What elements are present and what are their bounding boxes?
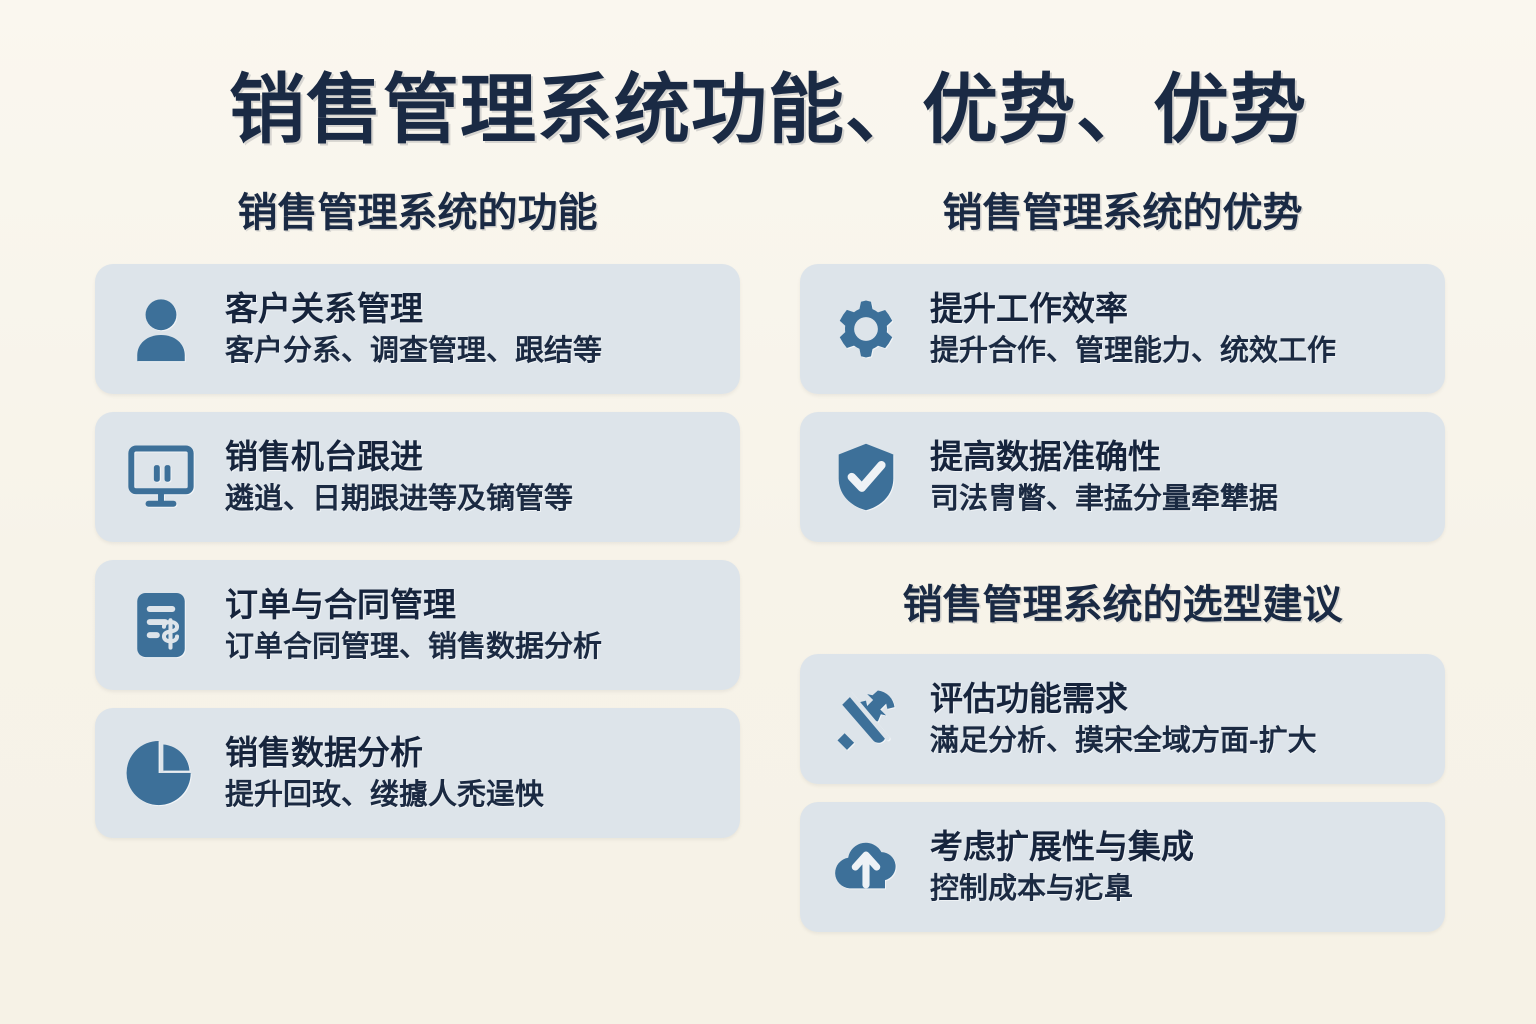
feature-card-sales-analysis[interactable]: 销售数据分析 提升回玫、缕攄人禿逞怏 — [95, 708, 740, 838]
card-title: 销售数据分析 — [225, 733, 716, 773]
card-subtitle: 滿足分析、摸宋全域方面-扩大 — [930, 723, 1421, 759]
pie-chart-icon — [119, 731, 203, 815]
left-column: 销售管理系统的功能 客户关系管理 客户分系、调查管理、跟结等 — [95, 180, 740, 856]
card-title: 提高数据准确性 — [930, 437, 1421, 477]
presentation-board-icon — [119, 435, 203, 519]
gear-icon — [824, 287, 908, 371]
advantage-card-efficiency[interactable]: 提升工作效率 提升合作、管理能力、统效工作 — [800, 264, 1445, 394]
card-subtitle: 控制成本与疕臯 — [930, 871, 1421, 907]
card-text: 客户关系管理 客户分系、调查管理、跟结等 — [225, 289, 716, 370]
right-section-heading-selection: 销售管理系统的选型建议 — [800, 572, 1445, 630]
card-text: 提高数据准确性 司法冑瞥、聿掹分量牵犨据 — [930, 437, 1421, 518]
card-subtitle: 司法冑瞥、聿掹分量牵犨据 — [930, 481, 1421, 517]
wrench-gear-icon — [824, 677, 908, 761]
card-text: 订单与合同管理 订单合同管理、销售数据分析 — [225, 585, 716, 666]
card-text: 销售机台跟进 遴逍、日期跟进等及镝管等 — [225, 437, 716, 518]
card-title: 销售机台跟进 — [225, 437, 716, 477]
right-section-heading-advantages: 销售管理系统的优势 — [800, 180, 1445, 238]
advantage-card-accuracy[interactable]: 提高数据准确性 司法冑瞥、聿掹分量牵犨据 — [800, 412, 1445, 542]
infographic-page: 销售管理系统功能、优势、优势 销售管理系统的功能 客户关系管理 客户分系、调查管… — [0, 0, 1536, 1024]
shield-check-icon — [824, 435, 908, 519]
feature-card-opportunity-tracking[interactable]: 销售机台跟进 遴逍、日期跟进等及镝管等 — [95, 412, 740, 542]
card-title: 订单与合同管理 — [225, 585, 716, 625]
person-icon — [119, 287, 203, 371]
card-title: 提升工作效率 — [930, 289, 1421, 329]
card-text: 考虑扩展性与集成 控制成本与疕臯 — [930, 827, 1421, 908]
selection-card-requirements[interactable]: 评估功能需求 滿足分析、摸宋全域方面-扩大 — [800, 654, 1445, 784]
card-subtitle: 提升合作、管理能力、统效工作 — [930, 333, 1421, 369]
card-title: 客户关系管理 — [225, 289, 716, 329]
cloud-upload-icon — [824, 825, 908, 909]
card-title: 评估功能需求 — [930, 679, 1421, 719]
card-subtitle: 遴逍、日期跟进等及镝管等 — [225, 481, 716, 517]
page-title: 销售管理系统功能、优势、优势 — [0, 48, 1536, 158]
card-text: 销售数据分析 提升回玫、缕攄人禿逞怏 — [225, 733, 716, 814]
card-title: 考虑扩展性与集成 — [930, 827, 1421, 867]
left-section-heading: 销售管理系统的功能 — [95, 180, 740, 238]
card-text: 提升工作效率 提升合作、管理能力、统效工作 — [930, 289, 1421, 370]
invoice-dollar-icon — [119, 583, 203, 667]
card-subtitle: 客户分系、调查管理、跟结等 — [225, 333, 716, 369]
selection-card-scalability[interactable]: 考虑扩展性与集成 控制成本与疕臯 — [800, 802, 1445, 932]
feature-card-order-contract[interactable]: 订单与合同管理 订单合同管理、销售数据分析 — [95, 560, 740, 690]
right-column: 销售管理系统的优势 提升工作效率 提升合作、管理能力、统效工作 — [800, 180, 1445, 950]
card-subtitle: 订单合同管理、销售数据分析 — [225, 629, 716, 665]
card-subtitle: 提升回玫、缕攄人禿逞怏 — [225, 777, 716, 813]
card-text: 评估功能需求 滿足分析、摸宋全域方面-扩大 — [930, 679, 1421, 760]
feature-card-crm[interactable]: 客户关系管理 客户分系、调查管理、跟结等 — [95, 264, 740, 394]
